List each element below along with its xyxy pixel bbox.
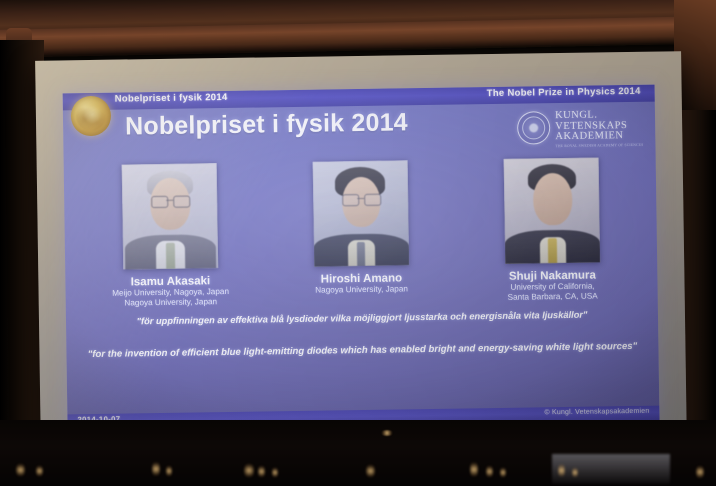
laureate-card: Hiroshi Amano Nagoya University, Japan — [277, 160, 444, 307]
laureate-affiliation-2: Nagoya University, Japan — [124, 297, 217, 309]
portrait-softening — [503, 157, 600, 263]
audience-area — [0, 420, 716, 486]
slide-copyright: © Kungl. Vetenskapsakademien — [544, 407, 649, 416]
portrait-hiroshi-amano — [312, 160, 409, 266]
citation-english: "for the invention of efficient blue lig… — [66, 341, 658, 361]
laureate-card: Shuji Nakamura University of California,… — [468, 157, 635, 304]
portrait-softening — [312, 160, 409, 266]
laureate-affiliation-2: Santa Barbara, CA, USA — [508, 292, 598, 304]
header-left-label: Nobelpriset i fysik 2014 — [115, 92, 228, 105]
academy-logo: KUNGL. VETENSKAPS AKADEMIEN THE ROYAL SW… — [517, 110, 643, 149]
academy-subtitle: THE ROYAL SWEDISH ACADEMY OF SCIENCES — [555, 142, 643, 148]
citation-swedish: "för uppfinningen av effektiva blå lysdi… — [66, 309, 658, 328]
laureate-card: Isamu Akasaki Meijo University, Nagoya, … — [86, 163, 253, 310]
academy-seal-icon — [517, 111, 550, 144]
portrait-softening — [121, 163, 218, 269]
page-title: Nobelpriset i fysik 2014 — [125, 108, 408, 141]
portrait-isamu-akasaki — [121, 163, 218, 269]
laureates-row: Isamu Akasaki Meijo University, Nagoya, … — [64, 157, 658, 310]
laureate-affiliation-1: Nagoya University, Japan — [315, 284, 408, 296]
projection-screen: Nobelpriset i fysik 2014 The Nobel Prize… — [35, 51, 687, 453]
header-right-label: The Nobel Prize in Physics 2014 — [487, 86, 641, 99]
presentation-slide: Nobelpriset i fysik 2014 The Nobel Prize… — [63, 85, 660, 430]
auditorium-photo: Nobelpriset i fysik 2014 The Nobel Prize… — [0, 0, 716, 486]
nobel-medal-icon — [71, 96, 112, 137]
medal-face — [76, 101, 106, 131]
academy-wordmark: KUNGL. VETENSKAPS AKADEMIEN THE ROYAL SW… — [555, 110, 643, 149]
portrait-shuji-nakamura — [503, 157, 600, 263]
